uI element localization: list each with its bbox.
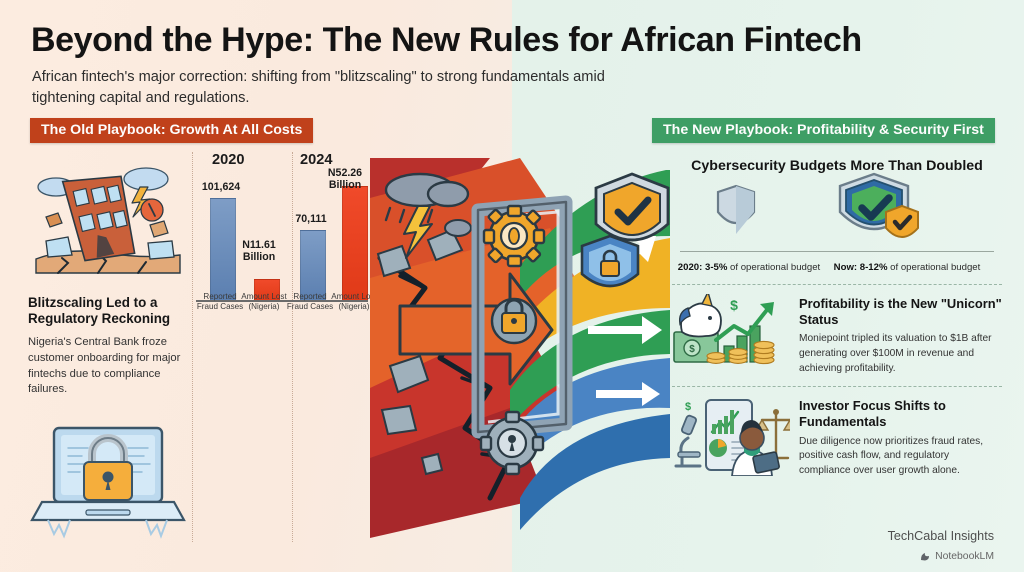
collapsing-building-illustration: [28, 155, 188, 280]
large-shield-check-icon: [832, 172, 928, 248]
bar-label-2020-fraud-cases: 101,624: [190, 182, 252, 194]
shield-caption-2020-rest: of operational budget: [727, 262, 820, 273]
profitability-heading: Profitability is the New "Unicorn" Statu…: [799, 296, 1002, 327]
x-tick-2020-fraud: Reported Fraud Cases: [196, 292, 244, 312]
unicorn-growth-money-illustration: $ $: [672, 294, 790, 370]
divider-dotted-left: [192, 152, 193, 542]
svg-text:$: $: [730, 297, 738, 313]
fraud-bar-chart: 2020 2024 101,624 N11.61 Billion 70,111 …: [196, 152, 368, 302]
banner-new-playbook: The New Playbook: Profitability & Securi…: [652, 118, 995, 143]
notebooklm-icon: [920, 551, 931, 562]
x-tick-2024-fraud: Reported Fraud Cases: [286, 292, 334, 312]
left-column: Blitzscaling Led to a Regulatory Reckoni…: [28, 155, 188, 547]
right-item-profitability: $ $: [672, 294, 1002, 376]
infographic-canvas: Beyond the Hype: The New Rules for Afric…: [0, 0, 1024, 572]
page-subtitle: African fintech's major correction: shif…: [32, 67, 672, 108]
bar-2024-amount-lost: [342, 186, 368, 302]
shield-caption-now-rest: of operational budget: [888, 262, 981, 273]
cybersecurity-shield-comparison: 2020: 3-5% of operational budget Now: 8-…: [672, 178, 1002, 274]
bar-label-2020-amount-lost: N11.61 Billion: [230, 240, 288, 264]
profitability-body: Moniepoint tripled its valuation to $1B …: [799, 332, 1002, 376]
bar-label-2024-fraud-cases: 70,111: [280, 214, 342, 226]
bar-label-2024-amount-lost: N52.26 Billion: [316, 168, 374, 192]
investor-focus-heading: Investor Focus Shifts to Fundamentals: [799, 398, 1002, 429]
left-body: Nigeria's Central Bank froze customer on…: [28, 335, 188, 399]
laptop-padlock-illustration: [28, 414, 188, 542]
notebooklm-badge: NotebookLM: [920, 551, 994, 562]
svg-text:$: $: [689, 344, 695, 355]
shield-caption-2020-strong: 2020: 3-5%: [678, 262, 728, 273]
banner-old-playbook: The Old Playbook: Growth At All Costs: [30, 118, 313, 143]
divider-dashed-2: [672, 386, 1002, 387]
page-title: Beyond the Hype: The New Rules for Afric…: [31, 22, 991, 59]
chart-year-2020: 2020: [212, 152, 244, 168]
left-heading: Blitzscaling Led to a Regulatory Reckoni…: [28, 295, 188, 328]
x-tick-2020-amount: Amount Lost (Nigeria): [240, 292, 288, 312]
right-column: Cybersecurity Budgets More Than Doubled …: [672, 158, 1002, 479]
shield-caption-2020: 2020: 3-5% of operational budget: [674, 262, 824, 274]
shield-baseline: [680, 251, 994, 253]
profitability-text: Profitability is the New "Unicorn" Statu…: [799, 294, 1002, 376]
investor-focus-body: Due diligence now prioritizes fraud rate…: [799, 435, 1002, 479]
investor-focus-text: Investor Focus Shifts to Fundamentals Du…: [799, 396, 1002, 478]
broken-road-to-secure-gateway-illustration: [370, 158, 670, 538]
chart-x-tick-labels: Reported Fraud Cases Amount Lost (Nigeri…: [196, 290, 368, 324]
credit-label: TechCabal Insights: [888, 529, 994, 543]
divider-dashed-1: [672, 284, 1002, 285]
svg-text:$: $: [685, 401, 691, 413]
shield-caption-now: Now: 8-12% of operational budget: [832, 262, 982, 274]
right-item-investor-focus: $ Investor Focus Shifts to Fundamentals …: [672, 396, 1002, 478]
shield-caption-now-strong: Now: 8-12%: [834, 262, 888, 273]
small-shield-icon: [714, 184, 758, 238]
notebooklm-label: NotebookLM: [935, 551, 994, 562]
analyst-due-diligence-illustration: $: [672, 396, 790, 476]
chart-year-2024: 2024: [300, 152, 332, 168]
